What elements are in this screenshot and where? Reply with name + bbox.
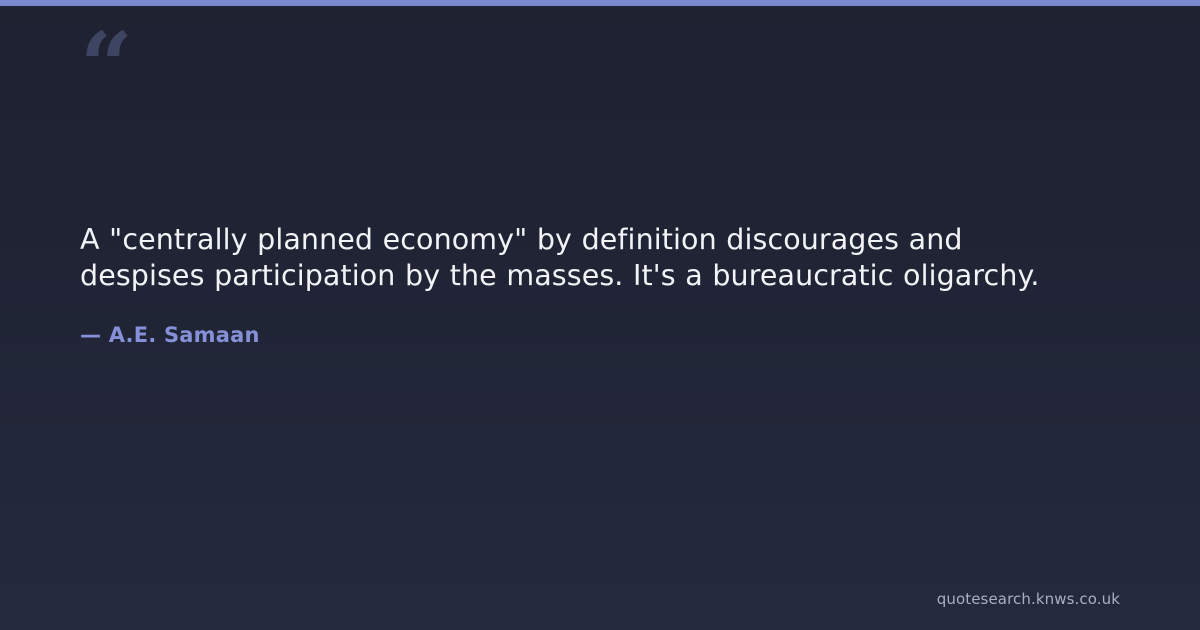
- top-accent-bar: [0, 0, 1200, 6]
- quote-attribution: — A.E. Samaan: [80, 294, 1080, 348]
- source-watermark: quotesearch.knws.co.uk: [937, 590, 1120, 608]
- quote-text: A "centrally planned economy" by definit…: [80, 222, 1070, 294]
- open-quote-icon: “: [80, 20, 131, 112]
- quote-content: A "centrally planned economy" by definit…: [80, 222, 1080, 348]
- quote-card: “ A "centrally planned economy" by defin…: [0, 0, 1200, 630]
